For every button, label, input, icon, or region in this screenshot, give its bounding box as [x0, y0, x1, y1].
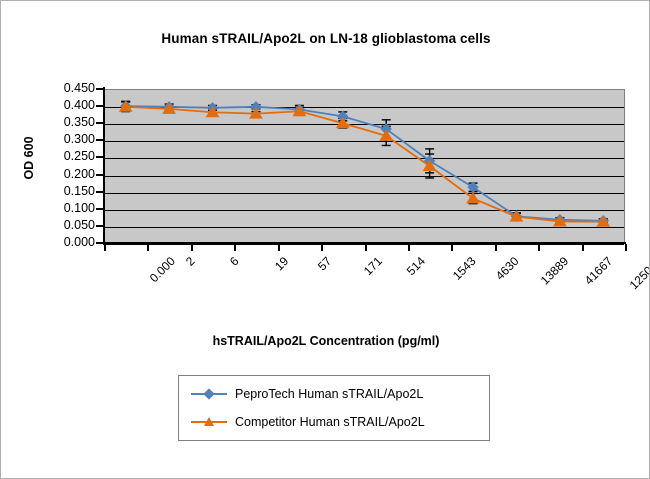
- x-axis-tick: [234, 244, 236, 251]
- gridline: [105, 107, 624, 108]
- y-axis-tick-labels: 0.4500.4000.3500.3000.2500.2000.1500.100…: [45, 1, 95, 479]
- x-axis-tick-label: 41667: [582, 254, 615, 287]
- gridline: [105, 124, 624, 125]
- x-axis-tick-label: 125000: [627, 254, 650, 292]
- y-axis-tick: [96, 174, 104, 176]
- y-axis-tick-label: 0.350: [49, 115, 95, 129]
- gridline: [105, 227, 624, 228]
- chart-title: Human sTRAIL/Apo2L on LN-18 glioblastoma…: [1, 31, 650, 46]
- x-axis-tick: [408, 244, 410, 251]
- chart-legend: PeproTech Human sTRAIL/Apo2L Competitor …: [178, 375, 490, 441]
- legend-item-peprotech: PeproTech Human sTRAIL/Apo2L: [191, 384, 423, 404]
- x-axis-tick-label: 2: [183, 254, 198, 269]
- x-axis-tick: [365, 244, 367, 251]
- x-axis-tick-label: 514: [404, 254, 428, 278]
- y-axis-tick-label: 0.150: [49, 184, 95, 198]
- gridline: [105, 141, 624, 142]
- x-axis-tick: [582, 244, 584, 251]
- y-axis-tick: [96, 88, 104, 90]
- x-axis-tick: [321, 244, 323, 251]
- x-axis-tick-label: 19: [272, 254, 291, 273]
- x-axis-tick: [538, 244, 540, 251]
- x-axis-tick-label: 6: [226, 254, 241, 269]
- legend-item-competitor: Competitor Human sTRAIL/Apo2L: [191, 412, 425, 432]
- y-axis-tick-label: 0.200: [49, 167, 95, 181]
- x-axis-tick: [495, 244, 497, 251]
- x-axis-tick: [278, 244, 280, 251]
- y-axis-tick: [96, 225, 104, 227]
- x-axis-tick-label: 4630: [493, 254, 522, 283]
- y-axis-tick-label: 0.250: [49, 149, 95, 163]
- gridline: [105, 210, 624, 211]
- y-axis-tick: [96, 122, 104, 124]
- y-axis-tick-label: 0.000: [49, 235, 95, 249]
- legend-label-peprotech: PeproTech Human sTRAIL/Apo2L: [235, 387, 423, 401]
- legend-marker-triangle-icon: [191, 415, 227, 429]
- y-axis-tick: [96, 156, 104, 158]
- x-axis-tick: [147, 244, 149, 251]
- x-axis-tick: [451, 244, 453, 251]
- y-axis-tick: [96, 208, 104, 210]
- gridline: [105, 176, 624, 177]
- y-axis-tick-label: 0.100: [49, 201, 95, 215]
- x-axis-tick: [625, 244, 627, 251]
- y-axis-line: [103, 87, 105, 245]
- y-axis-title: OD 600: [22, 108, 36, 208]
- y-axis-tick: [96, 139, 104, 141]
- x-axis-tick: [191, 244, 193, 251]
- y-axis-tick: [96, 105, 104, 107]
- legend-marker-diamond-icon: [191, 387, 227, 401]
- x-axis-title: hsTRAIL/Apo2L Concentration (pg/ml): [1, 334, 650, 348]
- plot-area: [104, 89, 625, 243]
- y-axis-tick-label: 0.450: [49, 81, 95, 95]
- x-axis-tick-label: 171: [361, 254, 385, 278]
- gridline: [105, 193, 624, 194]
- chart-figure: Human sTRAIL/Apo2L on LN-18 glioblastoma…: [0, 0, 650, 479]
- x-axis-tick-label: 57: [315, 254, 334, 273]
- gridline: [105, 158, 624, 159]
- x-axis-tick-label: 13889: [538, 254, 571, 287]
- legend-label-competitor: Competitor Human sTRAIL/Apo2L: [235, 415, 425, 429]
- y-axis-tick-label: 0.300: [49, 132, 95, 146]
- x-axis-tick: [104, 244, 106, 251]
- y-axis-tick-label: 0.400: [49, 98, 95, 112]
- y-axis-tick-label: 0.050: [49, 218, 95, 232]
- x-axis-tick-label: 1543: [449, 254, 478, 283]
- y-axis-tick: [96, 191, 104, 193]
- x-axis-tick-label: 0.000: [146, 254, 177, 285]
